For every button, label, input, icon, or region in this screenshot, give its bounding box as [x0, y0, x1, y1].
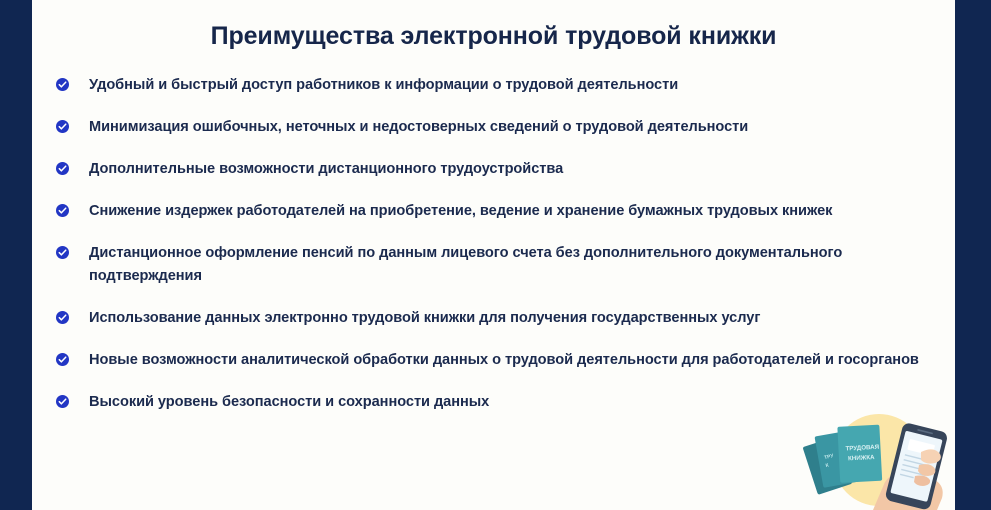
list-item: Удобный и быстрый доступ работников к ин…	[56, 74, 931, 97]
check-circle-icon	[56, 353, 69, 366]
check-circle-icon	[56, 395, 69, 408]
check-circle-icon	[56, 78, 69, 91]
workbook-phone-illustration: ТРУ К ТРУДОВАЯ КНИЖКА	[795, 408, 955, 510]
list-item: Снижение издержек работодателей на приоб…	[56, 200, 931, 223]
list-item-label: Удобный и быстрый доступ работников к ин…	[89, 74, 678, 97]
list-item: Использование данных электронно трудовой…	[56, 307, 931, 330]
right-accent-band	[955, 0, 991, 510]
list-item: Дистанционное оформление пенсий по данны…	[56, 242, 931, 288]
workbook-label-line2: КНИЖКА	[848, 454, 875, 462]
left-accent-band	[0, 0, 32, 510]
check-circle-icon	[56, 162, 69, 175]
check-circle-icon	[56, 311, 69, 324]
benefits-list: Удобный и быстрый доступ работников к ин…	[56, 74, 931, 433]
presentation-slide: Преимущества электронной трудовой книжки…	[0, 0, 991, 510]
list-item-label: Дополнительные возможности дистанционног…	[89, 158, 563, 181]
list-item-label: Дистанционное оформление пенсий по данны…	[89, 242, 931, 288]
check-circle-icon	[56, 204, 69, 217]
list-item: Дополнительные возможности дистанционног…	[56, 158, 931, 181]
list-item-label: Минимизация ошибочных, неточных и недост…	[89, 116, 748, 139]
check-circle-icon	[56, 246, 69, 259]
list-item: Новые возможности аналитической обработк…	[56, 349, 931, 372]
list-item-label: Использование данных электронно трудовой…	[89, 307, 760, 330]
list-item: Минимизация ошибочных, неточных и недост…	[56, 116, 931, 139]
list-item-label: Снижение издержек работодателей на приоб…	[89, 200, 832, 223]
slide-title: Преимущества электронной трудовой книжки	[32, 22, 955, 51]
list-item-label: Высокий уровень безопасности и сохраннос…	[89, 391, 489, 414]
check-circle-icon	[56, 120, 69, 133]
list-item-label: Новые возможности аналитической обработк…	[89, 349, 919, 372]
